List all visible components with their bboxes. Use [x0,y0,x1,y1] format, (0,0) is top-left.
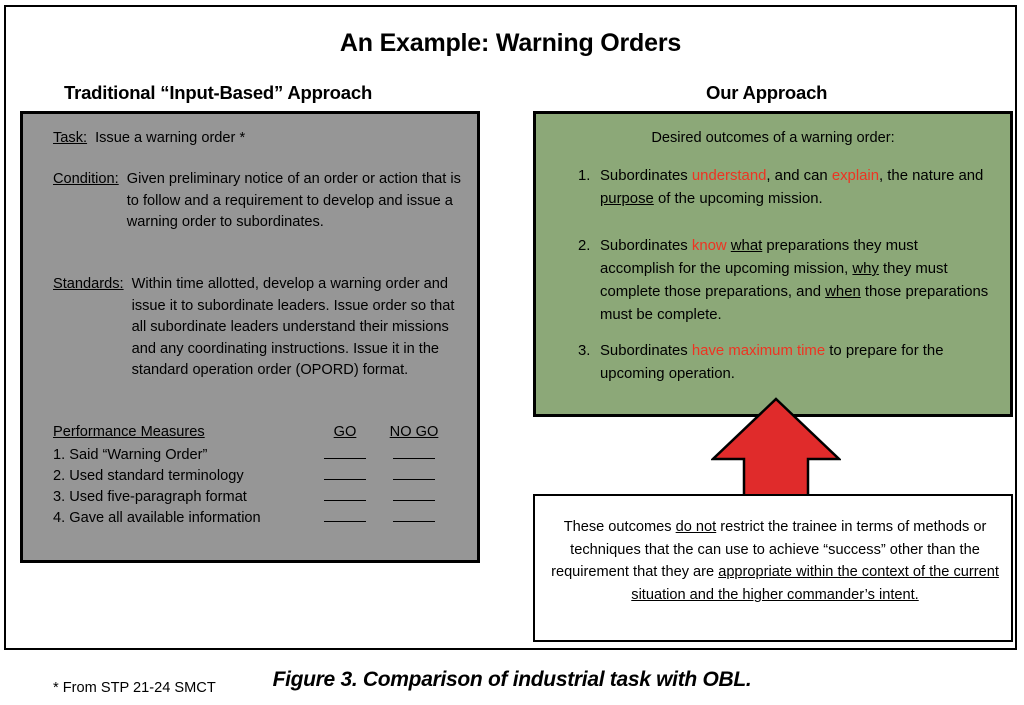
nogo-blank[interactable] [375,466,453,487]
task-row: Task: Issue a warning order * [53,128,453,150]
figure-frame: An Example: Warning Orders Traditional “… [4,5,1017,650]
outcome-number-3: 3. [578,340,600,386]
outcome-text-1: Subordinates understand, and can explain… [600,165,990,211]
task-text: Issue a warning order * [95,128,453,150]
condition-row: Condition: Given preliminary notice of a… [53,169,463,234]
blank-line[interactable] [393,508,435,522]
outcome-number-1: 1. [578,165,600,211]
measures-header: Performance Measures [53,422,315,445]
note-text: These outcomes do not restrict the train… [549,516,1001,606]
task-label: Task: [53,128,87,150]
outcome-item-1: 1. Subordinates understand, and can expl… [578,165,990,211]
measure-label: 4. Gave all available information [53,508,315,529]
column-heading-traditional: Traditional “Input-Based” Approach [64,82,372,104]
blank-line[interactable] [393,487,435,501]
table-row: 3. Used five-paragraph format [53,487,453,508]
figure-title: An Example: Warning Orders [6,29,1015,58]
blank-line[interactable] [393,445,435,459]
blank-line[interactable] [324,466,366,480]
go-blank[interactable] [315,445,375,466]
table-row: 1. Said “Warning Order” [53,445,453,466]
outcome-item-3: 3. Subordinates have maximum time to pre… [578,340,990,386]
condition-label: Condition: [53,169,119,234]
nogo-blank[interactable] [375,487,453,508]
standards-row: Standards: Within time allotted, develop… [53,274,468,382]
go-column-header: GO [315,422,375,445]
outcome-number-2: 2. [578,235,600,327]
table-row: 2. Used standard terminology [53,466,453,487]
go-blank[interactable] [315,508,375,529]
outcome-text-3: Subordinates have maximum time to prepar… [600,340,990,386]
standards-text: Within time allotted, develop a warning … [132,274,468,382]
standards-label: Standards: [53,274,124,382]
up-arrow-icon [711,397,841,507]
outcome-text-2: Subordinates know what preparations they… [600,235,990,327]
measure-label: 2. Used standard terminology [53,466,315,487]
blank-line[interactable] [324,487,366,501]
table-row: 4. Gave all available information [53,508,453,529]
condition-text: Given preliminary notice of an order or … [127,169,463,234]
figure-caption: Figure 3. Comparison of industrial task … [0,668,1024,692]
blank-line[interactable] [324,508,366,522]
outcome-item-2: 2. Subordinates know what preparations t… [578,235,990,327]
column-heading-our-approach: Our Approach [706,82,827,104]
go-blank[interactable] [315,466,375,487]
nogo-blank[interactable] [375,445,453,466]
table-header-row: Performance Measures GO NO GO [53,422,453,445]
measure-label: 1. Said “Warning Order” [53,445,315,466]
performance-measures-table: Performance Measures GO NO GO 1. Said “W… [53,422,453,529]
nogo-blank[interactable] [375,508,453,529]
nogo-column-header: NO GO [375,422,453,445]
measure-label: 3. Used five-paragraph format [53,487,315,508]
blank-line[interactable] [324,445,366,459]
note-panel: These outcomes do not restrict the train… [533,494,1013,642]
blank-line[interactable] [393,466,435,480]
traditional-approach-panel: Task: Issue a warning order * Condition:… [20,111,480,563]
go-blank[interactable] [315,487,375,508]
desired-outcomes-intro: Desired outcomes of a warning order: [536,130,1010,146]
our-approach-panel: Desired outcomes of a warning order: 1. … [533,111,1013,417]
